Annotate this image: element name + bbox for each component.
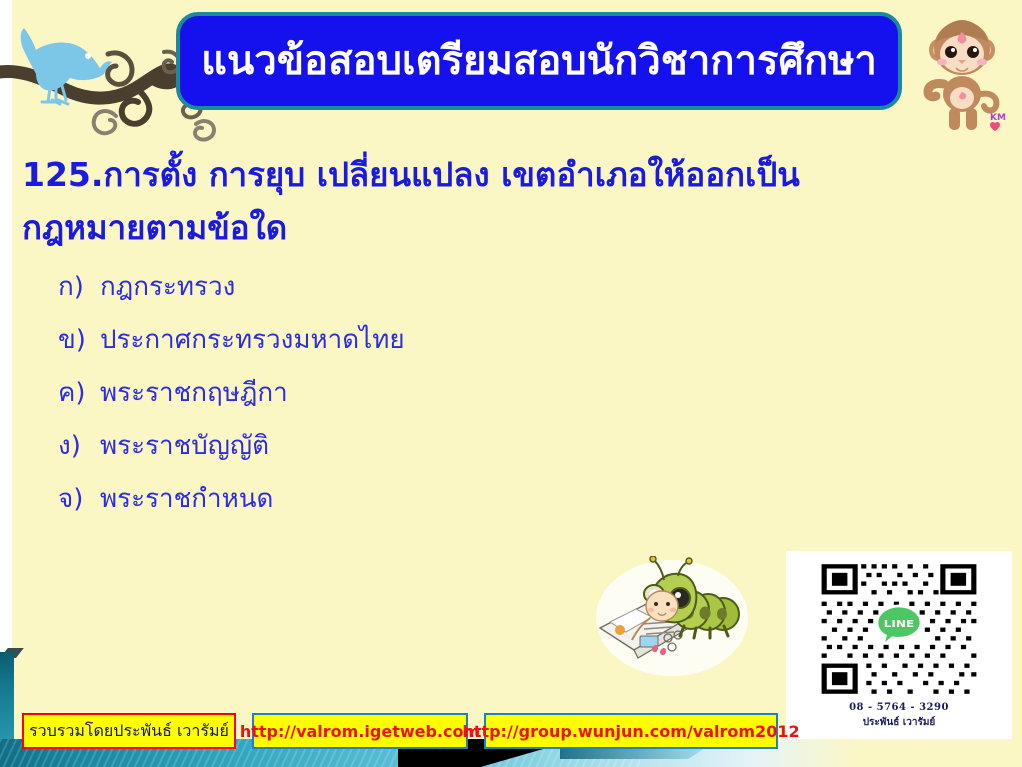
choice-label-a: กฎกระทรวง bbox=[100, 272, 235, 303]
choice-option-e[interactable]: จ) พระราชกำหนด bbox=[58, 484, 758, 537]
choice-label-b: ประกาศกระทรวงมหาดไทย bbox=[100, 325, 405, 356]
footer-credit-label: รวบรวมโดยประพันธ์ เวารัมย์ bbox=[29, 719, 229, 744]
question-text: 125.การตั้ง การยุบ เปลี่ยนแปลง เขตอำเภอใ… bbox=[22, 148, 982, 255]
slide-canvas: แนวข้อสอบเตรียมสอบนักวิชาการศึกษา KM 125… bbox=[0, 0, 1022, 767]
qr-code-image: LINE bbox=[813, 557, 985, 701]
slide-title-banner: แนวข้อสอบเตรียมสอบนักวิชาการศึกษา bbox=[176, 12, 902, 110]
choice-key-a: ก) bbox=[58, 272, 100, 303]
monkey-mascot-icon: KM bbox=[916, 6, 1012, 134]
qr-owner-name: ประพันธ์ เวารัมย์ bbox=[863, 715, 936, 730]
question-line-1: 125.การตั้ง การยุบ เปลี่ยนแปลง เขตอำเภอใ… bbox=[22, 148, 982, 201]
choice-option-d[interactable]: ง) พระราชบัญญัติ bbox=[58, 431, 758, 484]
choice-key-e: จ) bbox=[58, 484, 100, 515]
footer-group-label: http://group.wunjun.com/valrom2012 bbox=[462, 722, 799, 741]
left-teal-band bbox=[0, 652, 14, 752]
footer-website-box[interactable]: http://valrom.igetweb.com bbox=[252, 713, 468, 749]
page-title: แนวข้อสอบเตรียมสอบนักวิชาการศึกษา bbox=[201, 41, 877, 81]
caterpillar-reading-book-icon bbox=[592, 556, 752, 686]
choice-key-c: ค) bbox=[58, 378, 100, 409]
choice-label-d: พระราชบัญญัติ bbox=[100, 431, 269, 462]
footer-website-label: http://valrom.igetweb.com bbox=[240, 722, 480, 741]
choice-option-c[interactable]: ค) พระราชกฤษฎีกา bbox=[58, 378, 758, 431]
qr-code-card: LINE 08 - 5764 - 3290 ประพันธ์ เวารัมย์ bbox=[786, 551, 1012, 745]
answer-choices-list: ก) กฎกระทรวง ข) ประกาศกระทรวงมหาดไทย ค) … bbox=[58, 272, 758, 537]
choice-key-b: ข) bbox=[58, 325, 100, 356]
choice-option-a[interactable]: ก) กฎกระทรวง bbox=[58, 272, 758, 325]
choice-key-d: ง) bbox=[58, 431, 100, 462]
footer-credit-box[interactable]: รวบรวมโดยประพันธ์ เวารัมย์ bbox=[22, 713, 236, 749]
line-logo-icon: LINE bbox=[877, 605, 922, 642]
monkey-watermark-label: KM bbox=[990, 113, 1006, 123]
footer-group-box[interactable]: http://group.wunjun.com/valrom2012 bbox=[484, 713, 778, 749]
choice-label-c: พระราชกฤษฎีกา bbox=[100, 378, 288, 409]
question-line-2: กฎหมายตามข้อใด bbox=[22, 201, 982, 254]
choice-option-b[interactable]: ข) ประกาศกระทรวงมหาดไทย bbox=[58, 325, 758, 378]
qr-phone-number: 08 - 5764 - 3290 bbox=[849, 702, 949, 713]
choice-label-e: พระราชกำหนด bbox=[100, 484, 273, 515]
svg-text:LINE: LINE bbox=[884, 618, 914, 630]
